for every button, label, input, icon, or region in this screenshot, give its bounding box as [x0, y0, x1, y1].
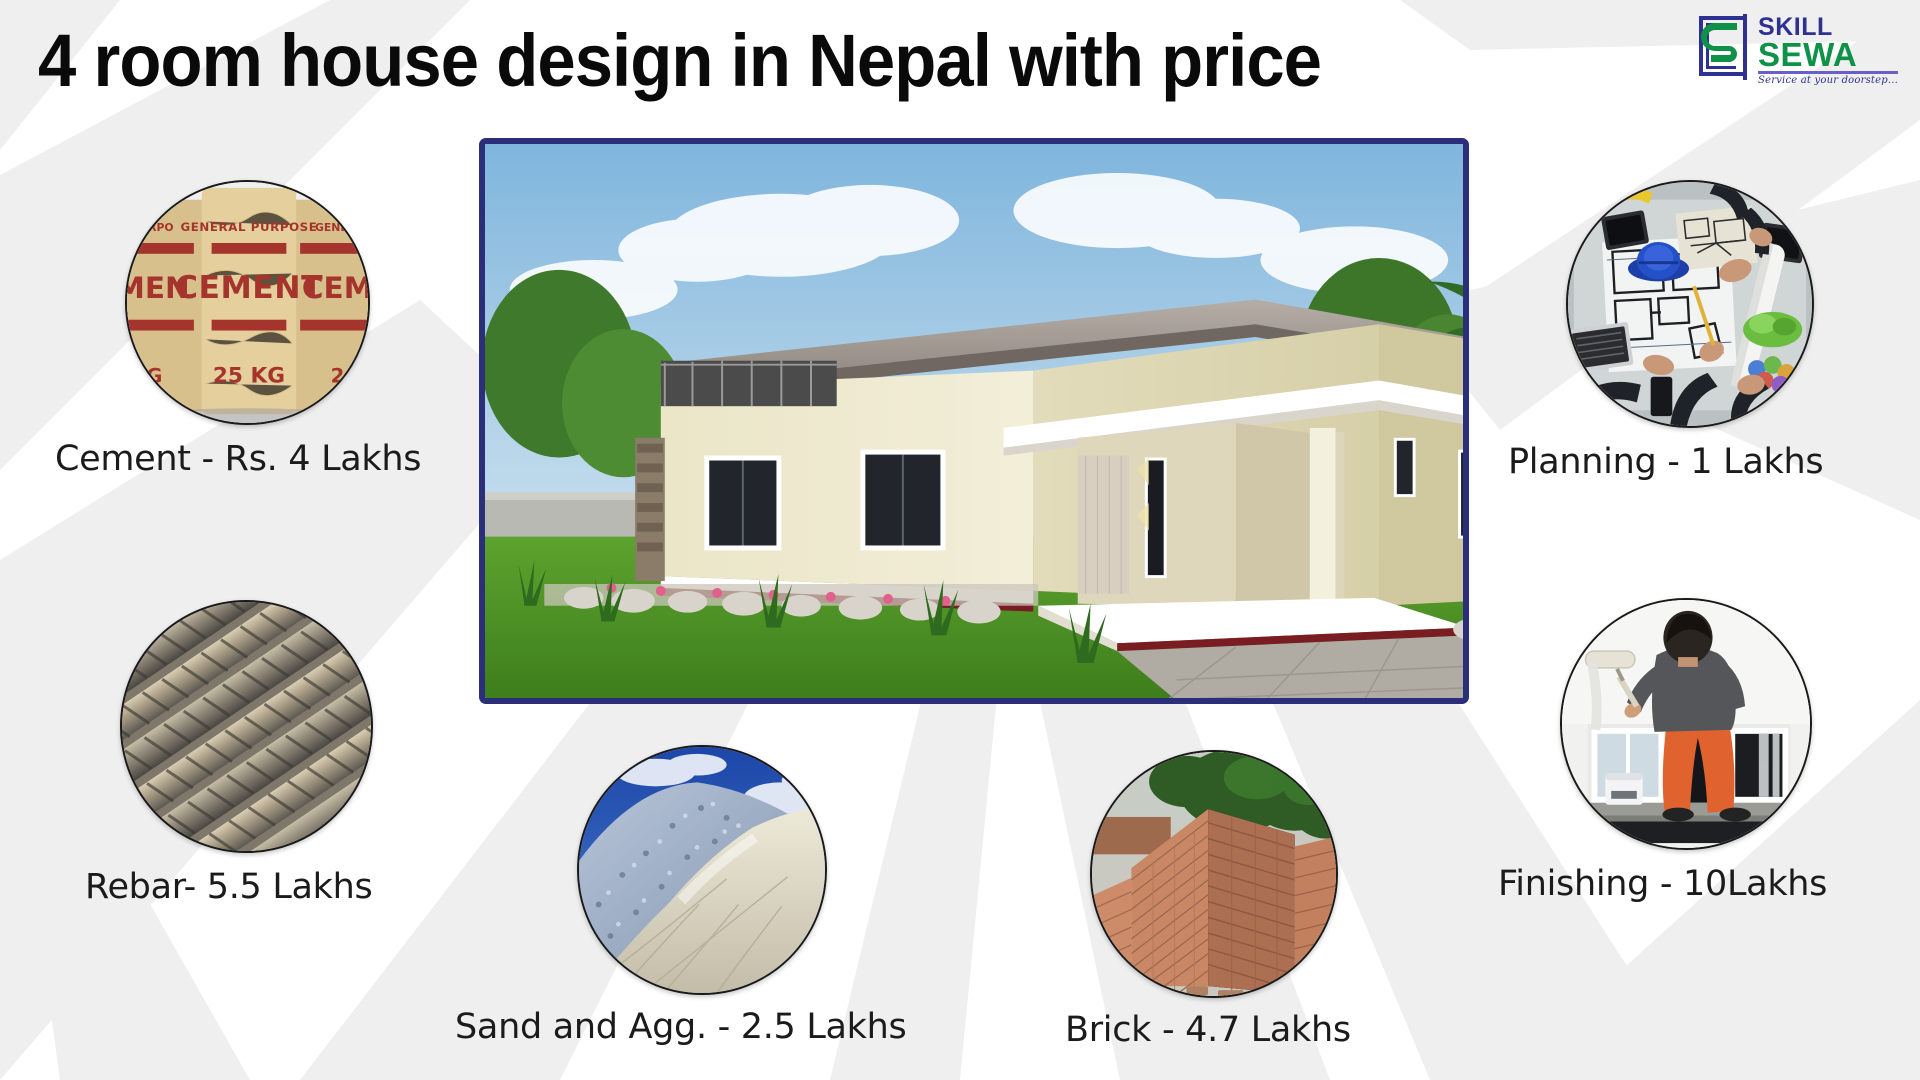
- cost-item-rebar-label: Rebar- 5.5 Lakhs: [85, 867, 373, 907]
- cost-item-finishing[interactable]: Finishing - 10Lakhs: [1498, 598, 1827, 904]
- svg-text:KG: KG: [131, 365, 162, 388]
- sand-and-gravel-illustration: [579, 747, 825, 993]
- svg-text:GENER: GENER: [315, 221, 357, 234]
- stacked-bricks-illustration: [1092, 752, 1336, 996]
- svg-text:25 KG: 25 KG: [213, 364, 285, 389]
- svg-text:MEN: MEN: [127, 271, 190, 305]
- svg-text:CEM: CEM: [302, 271, 368, 305]
- logo-wordmark: SKILL SEWA Service at your doorstep...: [1758, 12, 1898, 86]
- logo-name-secondary: SEWA: [1758, 39, 1898, 70]
- finishing-image: [1560, 598, 1812, 850]
- house-illustration: [485, 144, 1463, 698]
- house-render-photo[interactable]: [479, 138, 1469, 704]
- svg-text:GENERAL PURPOSE: GENERAL PURPOSE: [181, 220, 318, 234]
- cost-item-planning-label: Planning - 1 Lakhs: [1508, 442, 1823, 482]
- cement-image: GENERAL PURPOSE CEMENT 25 KG URPO MEN KG…: [125, 180, 370, 425]
- cost-item-brick[interactable]: Brick - 4.7 Lakhs: [1065, 750, 1351, 1050]
- cost-item-brick-label: Brick - 4.7 Lakhs: [1065, 1010, 1351, 1050]
- page-title: 4 room house design in Nepal with price: [38, 18, 1321, 103]
- logo-tagline: Service at your doorstep...: [1758, 75, 1898, 86]
- skillsewa-logo[interactable]: SKILL SEWA Service at your doorstep...: [1697, 12, 1898, 86]
- rebar-bars-illustration: [122, 602, 371, 851]
- planning-image: [1566, 180, 1814, 428]
- svg-text:CEMENT: CEMENT: [175, 270, 323, 306]
- cement-bags-illustration: GENERAL PURPOSE CEMENT 25 KG URPO MEN KG…: [127, 182, 368, 423]
- skillsewa-logo-mark: [1697, 12, 1753, 84]
- cost-item-finishing-label: Finishing - 10Lakhs: [1498, 864, 1827, 904]
- architects-blueprint-illustration: [1568, 182, 1812, 426]
- rebar-image: [120, 600, 373, 853]
- logo-divider: [1758, 71, 1898, 74]
- cost-item-rebar[interactable]: Rebar- 5.5 Lakhs: [85, 600, 373, 907]
- sand-aggregate-image: [577, 745, 827, 995]
- svg-text:2: 2: [331, 365, 345, 388]
- cost-item-sand[interactable]: Sand and Agg. - 2.5 Lakhs: [455, 745, 906, 1047]
- cost-item-cement-label: Cement - Rs. 4 Lakhs: [55, 439, 421, 479]
- svg-text:URPO: URPO: [139, 221, 173, 234]
- cost-item-sand-label: Sand and Agg. - 2.5 Lakhs: [455, 1007, 906, 1047]
- brick-image: [1090, 750, 1338, 998]
- cost-item-planning[interactable]: Planning - 1 Lakhs: [1508, 180, 1823, 482]
- painter-illustration: [1562, 600, 1810, 848]
- cost-item-cement[interactable]: GENERAL PURPOSE CEMENT 25 KG URPO MEN KG…: [55, 180, 421, 479]
